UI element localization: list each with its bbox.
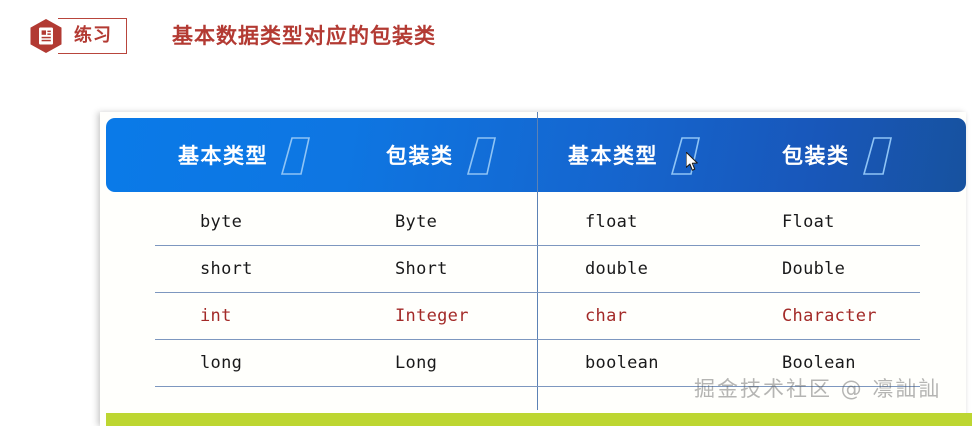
table-header: 基本类型 包装类 基本类型 包装类 — [106, 118, 966, 192]
bottom-accent-bar — [106, 413, 972, 426]
column-header-label: 包装类 — [386, 146, 454, 167]
exercise-badge-label: 练习 — [74, 27, 112, 45]
table-row: short Short double Double — [100, 245, 966, 292]
cell-primitive-right: double — [585, 245, 648, 292]
column-header-label: 包装类 — [782, 146, 850, 167]
cell-primitive-left: short — [200, 245, 253, 292]
column-header-label: 基本类型 — [568, 146, 658, 167]
table-row: byte Byte float Float — [100, 198, 966, 245]
cell-wrapper-left: Short — [395, 245, 448, 292]
cell-wrapper-right: Float — [782, 198, 835, 245]
slant-bracket-icon — [462, 136, 496, 176]
table-row: int Integer char Character — [100, 292, 966, 339]
cell-wrapper-right: Double — [782, 245, 845, 292]
cell-wrapper-left: Byte — [395, 198, 437, 245]
slant-bracket-icon — [276, 136, 310, 176]
column-header-primitive-left: 基本类型 — [178, 138, 310, 174]
cell-primitive-left: int — [200, 292, 232, 339]
column-header-primitive-right: 基本类型 — [568, 138, 700, 174]
cell-wrapper-left: Long — [395, 339, 437, 386]
watermark: 掘金技术社区 @ 凛訕訕 — [694, 379, 941, 400]
cell-primitive-right: boolean — [585, 339, 659, 386]
slant-bracket-icon — [858, 136, 892, 176]
column-header-label: 基本类型 — [178, 146, 268, 167]
cell-primitive-right: float — [585, 198, 638, 245]
cell-primitive-left: byte — [200, 198, 242, 245]
column-header-wrapper-left: 包装类 — [386, 138, 496, 174]
cell-primitive-right: char — [585, 292, 627, 339]
page-header: 练习 基本数据类型对应的包装类 — [0, 0, 973, 78]
exercise-badge-box: 练习 — [58, 18, 127, 54]
cell-wrapper-right: Character — [782, 292, 877, 339]
page-title: 基本数据类型对应的包装类 — [172, 22, 436, 50]
document-hexagon-icon — [28, 18, 64, 54]
slant-bracket-icon — [666, 136, 700, 176]
cell-wrapper-left: Integer — [395, 292, 469, 339]
cell-primitive-left: long — [200, 339, 242, 386]
exercise-badge: 练习 — [28, 18, 127, 54]
column-header-wrapper-right: 包装类 — [782, 138, 892, 174]
